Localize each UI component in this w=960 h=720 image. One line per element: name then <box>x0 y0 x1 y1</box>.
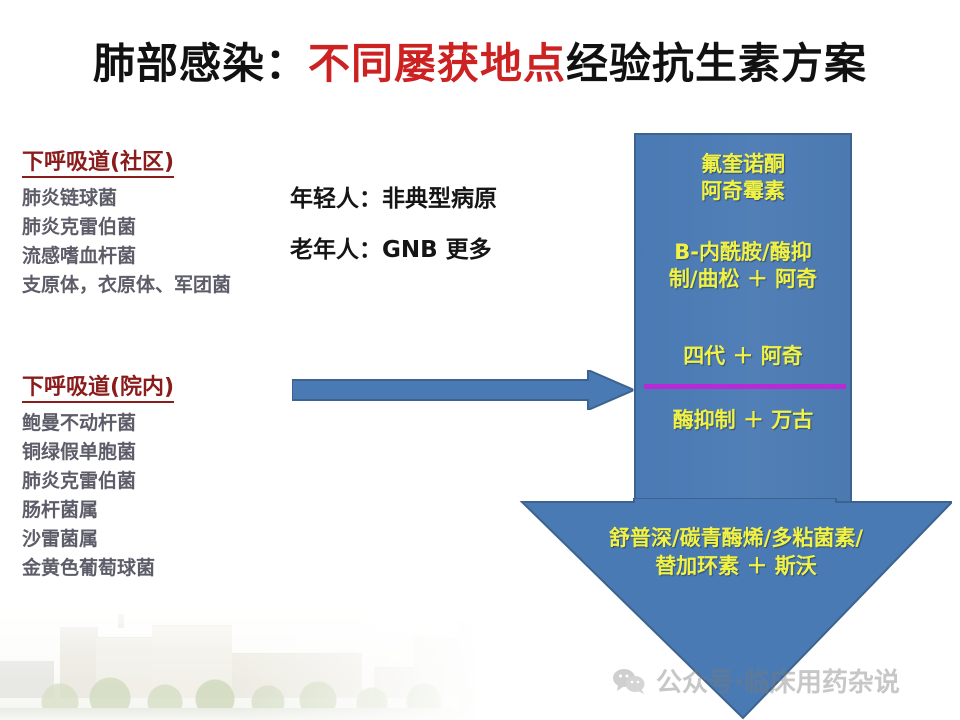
regimen-line-inhibitor-vanco: 酶抑制 ＋ 万古 <box>636 407 850 434</box>
title-highlight: 不同屡获地点 <box>308 39 566 88</box>
background-cityscape-photo <box>0 600 520 720</box>
regimen-line-fourth-gen: 四代 ＋ 阿奇 <box>636 343 850 370</box>
watermark: 公众号·临床用药杂说 <box>612 662 900 699</box>
list-item: 支原体，衣原体、军团菌 <box>22 271 231 300</box>
right-arrow-icon <box>292 370 634 410</box>
age-notes-block: 年轻人：非典型病原 老年人：GNB 更多 <box>290 188 497 290</box>
list-item: 铜绿假单胞菌 <box>22 438 174 467</box>
list-item: 金黄色葡萄球菌 <box>22 554 174 583</box>
wechat-icon <box>612 667 646 695</box>
regimen-text: 氟奎诺酮 <box>636 151 850 178</box>
list-item: 鲍曼不动杆菌 <box>22 409 174 438</box>
regimen-line-community-first: 氟奎诺酮 阿奇霉素 <box>636 151 850 205</box>
regimen-text: 制/曲松 ＋ 阿奇 <box>636 266 850 293</box>
title-suffix: 经验抗生素方案 <box>566 39 867 88</box>
list-item: 流感嗜血杆菌 <box>22 242 231 271</box>
photo-right-fade <box>0 600 520 720</box>
community-pathogen-block: 下呼吸道(社区) 肺炎链球菌 肺炎克雷伯菌 流感嗜血杆菌 支原体，衣原体、军团菌 <box>22 150 231 300</box>
watermark-text: 公众号·临床用药杂说 <box>656 662 900 699</box>
hospital-pathogen-block: 下呼吸道(院内) 鲍曼不动杆菌 铜绿假单胞菌 肺炎克雷伯菌 肠杆菌属 沙雷菌属 … <box>22 375 174 583</box>
community-pathogen-list: 肺炎链球菌 肺炎克雷伯菌 流感嗜血杆菌 支原体，衣原体、军团菌 <box>22 184 231 300</box>
list-item: 肺炎链球菌 <box>22 184 231 213</box>
list-item: 肠杆菌属 <box>22 496 174 525</box>
note-elderly-patients: 老年人：GNB 更多 <box>290 239 497 262</box>
regimen-line-betalactam: B-内酰胺/酶抑 制/曲松 ＋ 阿奇 <box>636 239 850 293</box>
list-item: 沙雷菌属 <box>22 525 174 554</box>
slide-title: 肺部感染：不同屡获地点经验抗生素方案 <box>0 30 960 91</box>
regimen-divider <box>644 384 846 389</box>
regimen-text: 阿奇霉素 <box>636 178 850 205</box>
hospital-heading: 下呼吸道(院内) <box>22 375 174 403</box>
list-item: 肺炎克雷伯菌 <box>22 213 231 242</box>
list-item: 肺炎克雷伯菌 <box>22 467 174 496</box>
regimen-panel: 氟奎诺酮 阿奇霉素 B-内酰胺/酶抑 制/曲松 ＋ 阿奇 四代 ＋ 阿奇 酶抑制… <box>634 133 852 505</box>
note-young-patients: 年轻人：非典型病原 <box>290 188 497 211</box>
community-heading: 下呼吸道(社区) <box>22 150 174 178</box>
slide-canvas: 肺部感染：不同屡获地点经验抗生素方案 下呼吸道(社区) 肺炎链球菌 肺炎克雷伯菌… <box>0 0 960 720</box>
regimen-text: B-内酰胺/酶抑 <box>636 239 850 266</box>
hospital-pathogen-list: 鲍曼不动杆菌 铜绿假单胞菌 肺炎克雷伯菌 肠杆菌属 沙雷菌属 金黄色葡萄球菌 <box>22 409 174 582</box>
title-prefix: 肺部感染： <box>93 39 308 88</box>
